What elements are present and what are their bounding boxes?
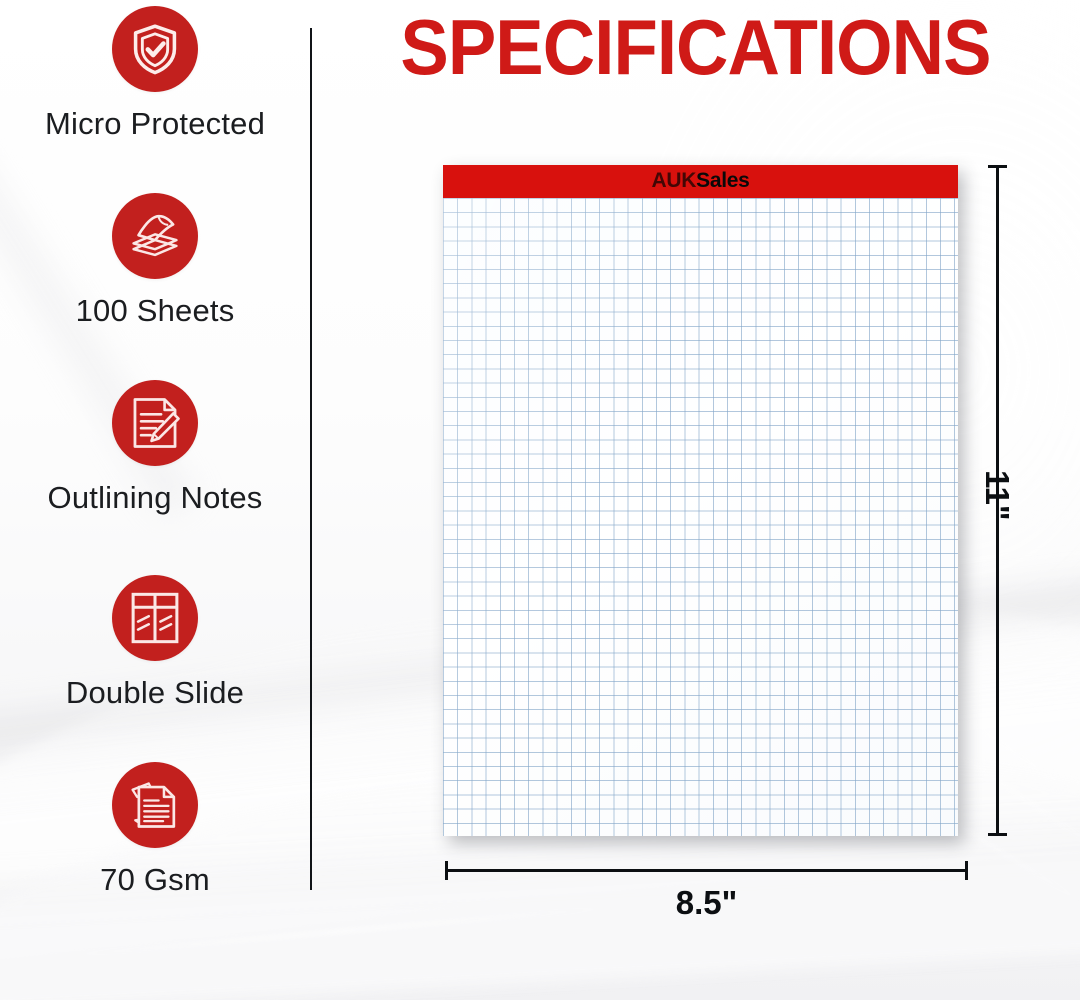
icon-badge — [112, 380, 198, 466]
feature-label: Outlining Notes — [0, 482, 310, 515]
icon-badge — [112, 575, 198, 661]
specifications-infographic: SPECIFICATIONS Micro Protected — [0, 0, 1080, 1000]
notepad-header-band: AUKSales — [443, 165, 958, 198]
height-dimension-label: 11" — [978, 470, 1016, 521]
icon-badge — [112, 762, 198, 848]
feature-label: Micro Protected — [0, 108, 310, 141]
brand-logo: AUKSales — [652, 170, 750, 191]
feature-label: 100 Sheets — [0, 295, 310, 328]
brand-logo-part1: AUK — [652, 169, 697, 192]
icon-badge — [112, 6, 198, 92]
icon-badge — [112, 193, 198, 279]
double-slide-icon — [130, 591, 180, 645]
section-divider — [310, 28, 312, 890]
page-title: SPECIFICATIONS — [338, 8, 1053, 86]
feature-item-outlining-notes: Outlining Notes — [0, 380, 310, 515]
feature-item-double-slide: Double Slide — [0, 575, 310, 710]
paper-stack-icon — [127, 211, 183, 261]
brand-logo-part2: Sales — [696, 169, 749, 192]
shield-check-icon — [128, 22, 182, 76]
feature-label: 70 Gsm — [0, 864, 310, 897]
documents-icon — [129, 778, 181, 832]
graph-paper-sheet — [443, 198, 958, 836]
feature-list: Micro Protected 100 Sheets — [0, 0, 310, 1000]
width-dimension-label: 8.5" — [445, 884, 968, 922]
feature-item-70-gsm: 70 Gsm — [0, 762, 310, 897]
note-pencil-icon — [129, 396, 181, 450]
feature-item-micro-protected: Micro Protected — [0, 6, 310, 141]
feature-label: Double Slide — [0, 677, 310, 710]
width-dimension-line — [445, 869, 968, 872]
feature-item-100-sheets: 100 Sheets — [0, 193, 310, 328]
notepad-product-image: AUKSales — [443, 165, 958, 836]
